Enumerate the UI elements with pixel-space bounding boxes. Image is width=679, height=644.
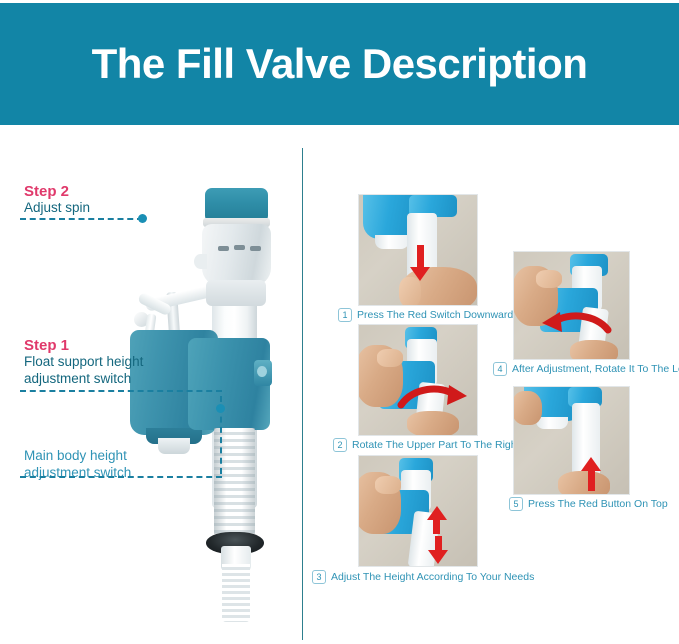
step-1-tag: Step 1 xyxy=(24,337,143,354)
step-photo-1 xyxy=(358,194,478,306)
valve-head-slot xyxy=(234,245,245,250)
page-root: The Fill Valve Description xyxy=(0,0,679,644)
photo-finger xyxy=(399,277,421,306)
photo-valve-white-collar xyxy=(375,235,409,249)
step-photo-3 xyxy=(358,455,478,567)
double-arrow-stem-upper xyxy=(433,518,440,534)
caption-text: After Adjustment, Rotate It To The Left xyxy=(512,363,679,375)
valve-head xyxy=(202,224,271,286)
leader-dot-step-1 xyxy=(216,404,225,413)
valve-cap xyxy=(205,188,268,221)
valve-head-slot xyxy=(218,246,229,251)
main-body-text-line1: Main body height xyxy=(24,448,131,465)
step-2-text: Adjust spin xyxy=(24,200,90,217)
valve-head-bump xyxy=(194,254,207,269)
main-body-text-line2: adjustment switch xyxy=(24,465,131,482)
fill-valve-illustration xyxy=(110,188,290,638)
photo-hand-lower xyxy=(558,471,610,495)
caption-text: Press The Red Switch Downward xyxy=(357,309,513,321)
leader-line-step-2 xyxy=(20,218,143,220)
photo-valve-white-collar xyxy=(536,417,568,429)
left-panel: Step 2 Adjust spin Step 1 Float support … xyxy=(0,128,302,644)
caption-text: Rotate The Upper Part To The Right xyxy=(352,439,520,451)
photo-1-image xyxy=(358,194,478,306)
step-1-text-line2: adjustment switch xyxy=(24,371,143,388)
photo-finger xyxy=(377,349,403,367)
valve-head-slot xyxy=(250,246,261,251)
caption-text: Press The Red Button On Top xyxy=(528,498,668,510)
step-1-text-line1: Float support height xyxy=(24,354,143,371)
caption-step-1: 1 Press The Red Switch Downward xyxy=(338,308,513,322)
photo-3-image xyxy=(358,455,478,567)
step-photo-5 xyxy=(513,386,630,495)
curved-left-arrow xyxy=(540,310,612,344)
down-arrow-head xyxy=(410,267,430,281)
photo-finger xyxy=(375,476,401,494)
caption-text: Adjust The Height According To Your Need… xyxy=(331,571,534,583)
step-2-tag: Step 2 xyxy=(24,183,90,200)
leader-dot-step-2 xyxy=(138,214,147,223)
header-banner: The Fill Valve Description xyxy=(0,3,679,125)
step-number-badge: 2 xyxy=(333,438,347,452)
photo-2-image xyxy=(358,324,478,436)
step-number-badge: 1 xyxy=(338,308,352,322)
right-panel: 1 Press The Red Switch Downward 2 xyxy=(302,128,679,644)
step-photo-4 xyxy=(513,251,630,360)
caption-step-2: 2 Rotate The Upper Part To The Right xyxy=(333,438,520,452)
step-number-badge: 3 xyxy=(312,570,326,584)
up-arrow-head xyxy=(581,457,601,471)
label-step-2: Step 2 Adjust spin xyxy=(24,183,90,217)
caption-step-3: 3 Adjust The Height According To Your Ne… xyxy=(312,570,534,584)
leader-line-step-1 xyxy=(20,390,222,392)
up-arrow-stem xyxy=(588,469,595,491)
curved-right-arrow xyxy=(397,383,469,417)
photo-5-image xyxy=(513,386,630,495)
step-number-badge: 4 xyxy=(493,362,507,376)
photo-finger xyxy=(536,270,562,288)
page-title: The Fill Valve Description xyxy=(92,40,588,88)
valve-float-nozzle xyxy=(158,438,190,454)
down-arrow-head xyxy=(428,550,448,564)
photo-hand xyxy=(513,391,542,425)
photo-4-image xyxy=(513,251,630,360)
valve-threaded-tail xyxy=(222,564,250,622)
valve-collar xyxy=(206,280,266,306)
label-step-1: Step 1 Float support height adjustment s… xyxy=(24,337,143,388)
valve-clamp-knob xyxy=(257,366,267,377)
step-photo-2 xyxy=(358,324,478,436)
caption-step-4: 4 After Adjustment, Rotate It To The Lef… xyxy=(493,362,679,376)
down-arrow-stem xyxy=(417,245,424,269)
leader-line-main-body xyxy=(20,476,222,478)
caption-step-5: 5 Press The Red Button On Top xyxy=(509,497,668,511)
step-number-badge: 5 xyxy=(509,497,523,511)
